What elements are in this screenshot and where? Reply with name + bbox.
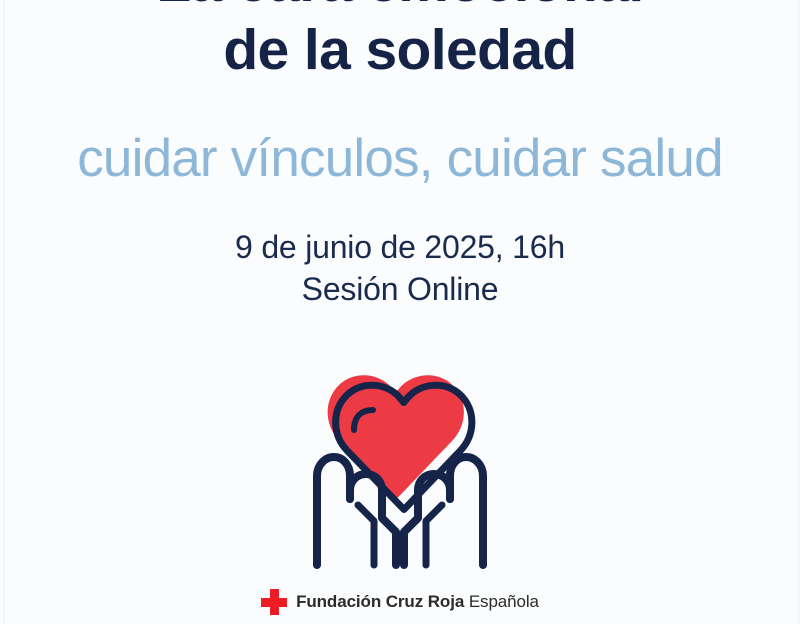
right-hand-finger-crease	[426, 505, 442, 565]
headline-line-2: de la soledad	[0, 16, 800, 84]
brand-name-strong: Fundación Cruz Roja	[296, 592, 464, 611]
red-cross-vertical-bar	[270, 589, 279, 615]
event-date: 9 de junio de 2025, 16h	[0, 226, 800, 268]
poster-canvas: La cara emocional de la soledad cuidar v…	[0, 0, 800, 624]
red-cross-icon	[261, 589, 287, 615]
event-info: 9 de junio de 2025, 16h Sesión Online	[0, 226, 800, 310]
brand-name: Fundación Cruz Roja Española	[296, 592, 539, 612]
left-edge-seam	[3, 0, 5, 624]
footer-brand: Fundación Cruz Roja Española	[0, 589, 800, 615]
poster-headline: La cara emocional de la soledad	[0, 0, 800, 84]
event-format: Sesión Online	[0, 268, 800, 310]
brand-name-light: Española	[469, 592, 539, 611]
headline-line-1: La cara emocional	[0, 0, 800, 16]
heart-in-hands-icon	[296, 368, 504, 572]
left-hand-finger-crease	[358, 505, 374, 565]
poster-subtitle: cuidar vínculos, cuidar salud	[0, 128, 800, 190]
left-hand-outer-contour	[317, 457, 350, 565]
right-hand-outer-contour	[450, 457, 483, 565]
